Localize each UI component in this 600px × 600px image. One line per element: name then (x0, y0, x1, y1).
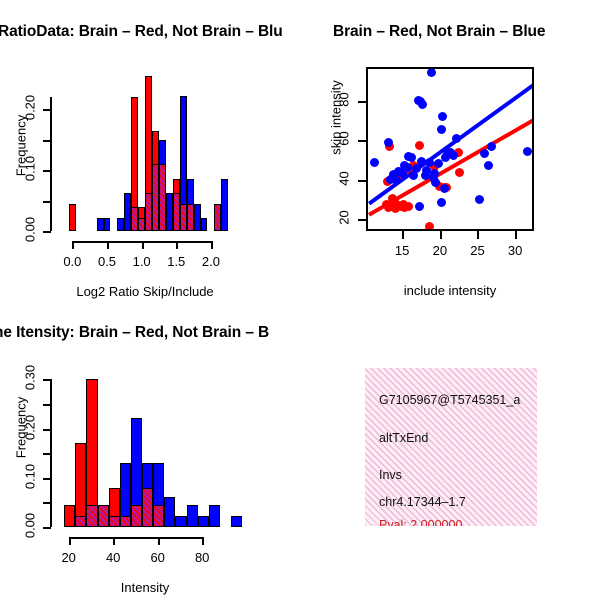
histogram-bar (142, 488, 153, 527)
x-axis-tick-label: 80 (184, 550, 220, 565)
histogram-bar (153, 505, 164, 527)
scatter-point (384, 138, 393, 147)
scatter-title: Brain – Red, Not Brain – Blue (333, 23, 545, 41)
scatter-point (437, 198, 446, 207)
y-axis-tick (43, 478, 51, 480)
histogram-bar (164, 497, 175, 527)
info-line: altTxEnd (379, 431, 428, 445)
x-axis-tick (158, 537, 160, 545)
scatter-point (449, 151, 458, 160)
scatter-y-tick (358, 101, 366, 103)
y-axis-tick (43, 404, 51, 406)
x-axis-tick-label: 40 (95, 550, 131, 565)
scatter-point (484, 161, 493, 170)
y-axis-tick (43, 429, 51, 431)
scatter-x-tick-label: 30 (497, 243, 533, 258)
histogram-bar (187, 505, 198, 527)
histogram-bar (198, 516, 209, 527)
histogram-bar (75, 516, 86, 527)
scatter-point (434, 159, 443, 168)
scatter-point (370, 158, 379, 167)
scatter-plot-box (366, 67, 534, 231)
x-axis-line (69, 537, 203, 539)
info-line: chr4.17344–1.7 (379, 495, 466, 509)
info-line: Invs (379, 468, 402, 482)
scatter-point (425, 222, 434, 229)
info-pval: Pval: 2.000000 (379, 518, 462, 526)
scatter-point (388, 194, 397, 203)
y-axis-tick (43, 453, 51, 455)
scatter-point (455, 168, 464, 177)
scatter-y-tick (358, 219, 366, 221)
histogram-bar (131, 505, 142, 527)
scatter-x-tick-label: 20 (422, 243, 458, 258)
scatter-point (404, 202, 413, 211)
scatter-ylabel: skip intensity (329, 68, 344, 168)
y-axis-tick (43, 379, 51, 381)
scatter-xlabel: include intensity (326, 283, 574, 298)
y-axis-tick (43, 502, 51, 504)
scatter-y-tick (358, 140, 366, 142)
scatter-point (427, 69, 436, 77)
x-axis-tick-label: 20 (51, 550, 87, 565)
scatter-y-tick (358, 180, 366, 182)
histogram-bar (120, 516, 131, 527)
scatter-point (438, 112, 447, 121)
x-axis-tick-label: 60 (140, 550, 176, 565)
histogram-bar (86, 505, 97, 527)
scatter-point (415, 141, 424, 150)
y-axis-tick-label: 0.00 (23, 506, 38, 546)
scatter-point (418, 100, 427, 109)
x-axis-tick (202, 537, 204, 545)
scatter-point (523, 147, 532, 156)
histogram-bar (231, 516, 242, 527)
scatter-x-tick (477, 231, 479, 239)
info-line: G7105967@T5745351_a (379, 393, 520, 407)
scatter-y-tick-label: 20 (337, 198, 352, 238)
scatter-x-tick-label: 15 (384, 243, 420, 258)
histogram-bar (175, 516, 186, 527)
histogram-bar (109, 516, 120, 527)
scatter-point (409, 171, 418, 180)
intensity-histogram-ylabel: Frequency (14, 388, 29, 468)
intensity-histogram-xlabel: Intensity (30, 580, 260, 595)
histogram-bar (209, 505, 220, 527)
scatter-x-tick (515, 231, 517, 239)
scatter-point (475, 195, 484, 204)
scatter-x-tick (402, 231, 404, 239)
x-axis-tick (113, 537, 115, 545)
scatter-point (487, 142, 496, 151)
scatter-point (415, 202, 424, 211)
histogram-bar (75, 443, 86, 527)
histogram-bar (98, 505, 109, 527)
scatter-x-tick (440, 231, 442, 239)
scatter-x-tick-label: 25 (459, 243, 495, 258)
intensity-histogram-plot: 0.000.100.200.30Frequency20406080Intensi… (0, 0, 300, 600)
scatter-point (480, 149, 489, 158)
histogram-bar (64, 505, 75, 527)
scatter-point (437, 125, 446, 134)
scatter-point (452, 134, 461, 143)
scatter-point (430, 169, 439, 178)
info-panel: G7105967@T5745351_aaltTxEndInvschr4.1734… (365, 368, 537, 526)
y-axis-tick (43, 527, 51, 529)
figure-canvas: RatioData: Brain – Red, Not Brain – Blu0… (0, 0, 600, 600)
x-axis-tick (69, 537, 71, 545)
scatter-data-area (368, 69, 532, 229)
